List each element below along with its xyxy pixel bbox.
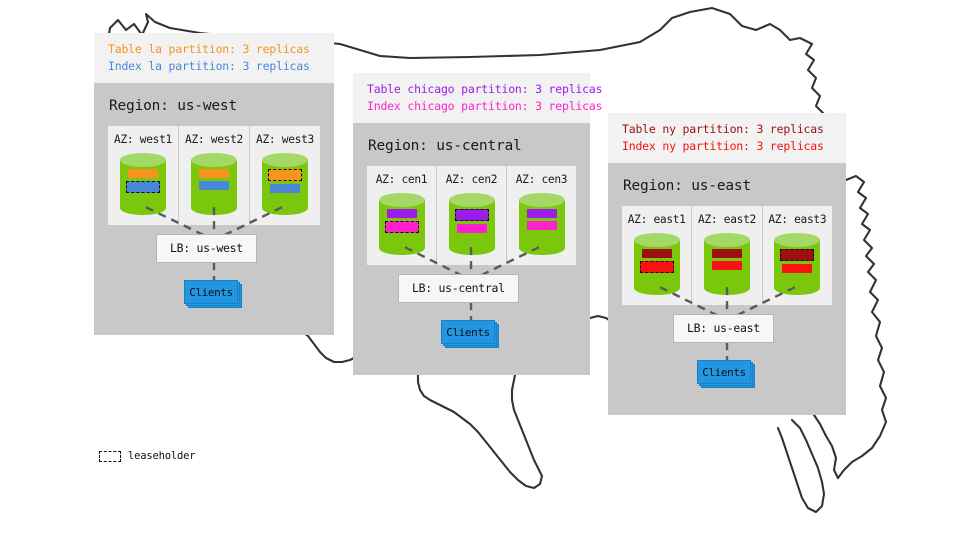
replica-bars — [120, 169, 166, 193]
replica-bar-index — [199, 181, 229, 190]
replica-bar-table — [527, 209, 557, 218]
az-west1[interactable]: AZ: west1 — [108, 126, 178, 225]
node-cylinder-cen3[interactable] — [519, 193, 565, 255]
diagram-canvas: Table la partition: 3 replicas Index la … — [0, 0, 960, 540]
az-label: AZ: cen3 — [516, 173, 567, 186]
clients-label: Clients — [697, 360, 751, 384]
az-cen2[interactable]: AZ: cen2 — [436, 166, 506, 265]
replica-bars — [519, 209, 565, 230]
replica-bar-table — [199, 169, 229, 178]
az-east1[interactable]: AZ: east1 — [622, 206, 691, 305]
replica-bar-table-leaseholder — [268, 169, 302, 181]
region-title: Region: us-central — [368, 138, 576, 154]
node-cylinder-east3[interactable] — [774, 233, 820, 295]
partition-table-line: Table chicago partition: 3 replicas — [367, 81, 576, 98]
replica-bar-table — [128, 169, 158, 178]
az-cen1[interactable]: AZ: cen1 — [367, 166, 436, 265]
load-balancer-us-east[interactable]: LB: us-east — [673, 314, 774, 343]
az-west3[interactable]: AZ: west3 — [249, 126, 320, 225]
load-balancer-us-west[interactable]: LB: us-west — [156, 234, 257, 263]
clients-us-central[interactable]: Clients — [441, 320, 499, 346]
replica-bars — [774, 249, 820, 273]
node-cylinder-cen1[interactable] — [379, 193, 425, 255]
partition-index-line: Index chicago partition: 3 replicas — [367, 98, 576, 115]
replica-bars — [704, 249, 750, 270]
partition-index-line: Index ny partition: 3 replicas — [622, 138, 832, 155]
replica-bars — [449, 209, 495, 233]
az-east2[interactable]: AZ: east2 — [691, 206, 761, 305]
az-label: AZ: west2 — [185, 133, 243, 146]
az-label: AZ: cen1 — [376, 173, 427, 186]
region-panel-us-west: Table la partition: 3 replicas Index la … — [94, 33, 334, 335]
replica-bar-index — [527, 221, 557, 230]
az-label: AZ: east1 — [628, 213, 686, 226]
clients-us-east[interactable]: Clients — [697, 360, 755, 386]
node-cylinder-cen2[interactable] — [449, 193, 495, 255]
dashed-rectangle-icon — [99, 451, 121, 462]
az-cen3[interactable]: AZ: cen3 — [506, 166, 576, 265]
replica-bar-table-leaseholder — [780, 249, 814, 261]
replica-bars — [262, 169, 308, 193]
az-label: AZ: east3 — [768, 213, 826, 226]
replica-bar-index — [270, 184, 300, 193]
replica-bar-table — [712, 249, 742, 258]
az-strip-us-west: AZ: west1 AZ: west2 — [108, 126, 320, 225]
clients-us-west[interactable]: Clients — [184, 280, 242, 306]
replica-bars — [191, 169, 237, 190]
node-cylinder-east1[interactable] — [634, 233, 680, 295]
region-panel-us-central: Table chicago partition: 3 replicas Inde… — [353, 73, 590, 375]
partition-table-line: Table la partition: 3 replicas — [108, 41, 320, 58]
replica-bar-table-leaseholder — [455, 209, 489, 221]
az-label: AZ: cen2 — [446, 173, 497, 186]
node-cylinder-east2[interactable] — [704, 233, 750, 295]
node-cylinder-west3[interactable] — [262, 153, 308, 215]
replica-bars — [634, 249, 680, 273]
us-map-florida-path — [778, 420, 824, 512]
az-label: AZ: east2 — [698, 213, 756, 226]
az-label: AZ: west1 — [114, 133, 172, 146]
replica-bar-index — [712, 261, 742, 270]
replica-bar-index-leaseholder — [640, 261, 674, 273]
az-label: AZ: west3 — [256, 133, 314, 146]
node-cylinder-west2[interactable] — [191, 153, 237, 215]
az-strip-us-central: AZ: cen1 AZ: cen2 — [367, 166, 576, 265]
replica-bar-index — [457, 224, 487, 233]
legend-leaseholder: leaseholder — [99, 450, 195, 462]
az-east3[interactable]: AZ: east3 — [762, 206, 832, 305]
partition-index-line: Index la partition: 3 replicas — [108, 58, 320, 75]
region-panel-us-east: Table ny partition: 3 replicas Index ny … — [608, 113, 846, 415]
legend-label: leaseholder — [128, 450, 195, 462]
replica-bar-index — [782, 264, 812, 273]
replica-bars — [379, 209, 425, 233]
az-west2[interactable]: AZ: west2 — [178, 126, 249, 225]
region-header-us-east: Table ny partition: 3 replicas Index ny … — [608, 113, 846, 163]
clients-label: Clients — [441, 320, 495, 344]
replica-bar-table — [642, 249, 672, 258]
clients-label: Clients — [184, 280, 238, 304]
region-header-us-central: Table chicago partition: 3 replicas Inde… — [353, 73, 590, 123]
region-title: Region: us-west — [109, 98, 320, 114]
replica-bar-index-leaseholder — [385, 221, 419, 233]
partition-table-line: Table ny partition: 3 replicas — [622, 121, 832, 138]
replica-bar-table — [387, 209, 417, 218]
region-header-us-west: Table la partition: 3 replicas Index la … — [94, 33, 334, 83]
region-title: Region: us-east — [623, 178, 832, 194]
node-cylinder-west1[interactable] — [120, 153, 166, 215]
load-balancer-us-central[interactable]: LB: us-central — [398, 274, 519, 303]
replica-bar-index-leaseholder — [126, 181, 160, 193]
az-strip-us-east: AZ: east1 AZ: east2 — [622, 206, 832, 305]
